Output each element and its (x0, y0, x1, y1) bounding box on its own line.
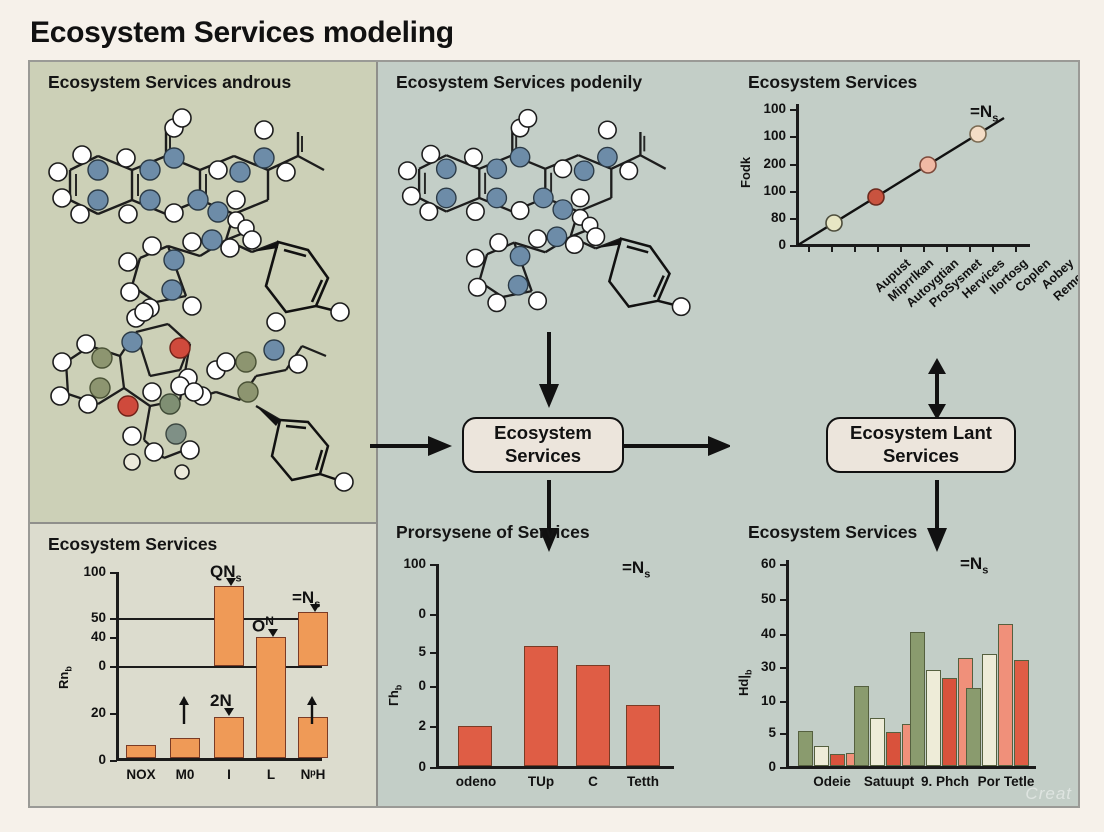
y-tick (430, 652, 437, 654)
bar-g3-s2 (998, 624, 1013, 766)
bar-g0-s0 (798, 731, 813, 766)
molecule-bottom-left (40, 300, 380, 500)
y-tick-label-4: 100 (742, 128, 786, 143)
y-axis-label-text: Γh (386, 690, 401, 706)
poster-board: Ecosystem Services androus (28, 60, 1080, 808)
x-tick (946, 244, 948, 252)
x-axis (436, 766, 674, 769)
y-tick (430, 767, 437, 769)
page-title: Ecosystem Services modeling (30, 16, 454, 50)
panel-left-top: Ecosystem Services androus (30, 62, 378, 522)
bar-g2-s0 (910, 632, 925, 766)
y-axis (786, 560, 789, 768)
flow-box-right-label: Ecosystem Lant Services (828, 422, 1014, 467)
x-tick-label-4: NᵖH (288, 767, 338, 782)
panel-left-top-header: Ecosystem Services androus (48, 72, 291, 93)
bar-g3-s1 (982, 654, 997, 766)
x-tick-label-0: NOX (116, 767, 166, 782)
bar-3 (256, 637, 286, 758)
x-tick (808, 244, 810, 252)
x-tick-label-2: C (567, 774, 619, 789)
arrow-double-vertical (926, 358, 948, 420)
x-tick-label-0: Odeie (802, 774, 862, 789)
y-tick-label-4: 50 (64, 610, 106, 625)
y-tick-label-4: 40 (740, 626, 776, 641)
y-tick-label-5: 50 (740, 591, 776, 606)
bar-chart-bottom-middle: 0 2 0 5 0 100 Γhb odeno TUp (378, 546, 730, 806)
annotation-qns-sub: s (236, 572, 242, 584)
y-tick (110, 760, 117, 762)
x-tick-label-3: Por Tetle (970, 774, 1042, 789)
y-tick-label-1: 2 (392, 718, 426, 733)
bar-g3-s3 (1014, 660, 1029, 766)
y-axis-label-sub: b (744, 670, 754, 676)
y-axis (436, 564, 439, 768)
annotation-ns-text: =N (622, 558, 644, 577)
x-tick (854, 244, 856, 252)
y-tick (780, 634, 787, 636)
annotation-ns-text: =N (960, 554, 982, 573)
bar-g1-s0 (854, 686, 869, 766)
x-tick (1015, 244, 1017, 252)
y-axis-label: Hd|b (736, 670, 754, 696)
bar-1 (524, 646, 558, 766)
gridline-zero (116, 666, 322, 668)
y-tick-label-3: 40 (64, 629, 106, 644)
panel-middle-header: Ecosystem Services podenily (396, 72, 642, 93)
flow-box-center[interactable]: Ecosystem Services (462, 417, 624, 473)
bar-2b (214, 586, 244, 666)
y-tick (110, 637, 117, 639)
annotation-up-arrow-0 (178, 696, 190, 724)
annotation-caret-1 (268, 629, 278, 637)
bar-g2-s1 (926, 670, 941, 766)
x-tick-label-1: M0 (160, 767, 210, 782)
annotation-ns-text: =N (970, 102, 992, 121)
y-tick-label-3: 5 (392, 644, 426, 659)
y-tick-label-1: 80 (746, 210, 786, 225)
bar-3 (626, 705, 660, 766)
bar-chart-bottom-middle-title: Prorsysene of Services (396, 522, 590, 543)
y-tick (110, 713, 117, 715)
arrow-down-to-grouped-chart (926, 480, 948, 554)
flow-box-right[interactable]: Ecosystem Lant Services (826, 417, 1016, 473)
y-axis-label: Fodk (738, 157, 753, 188)
y-tick (430, 686, 437, 688)
y-axis-label: Γhb (386, 685, 404, 706)
annotation-ns: =Ns (960, 554, 988, 576)
y-tick (780, 767, 787, 769)
x-axis (116, 758, 322, 761)
bar-g0-s2 (830, 754, 845, 766)
y-tick (110, 618, 117, 620)
x-tick-label-2: 9. Phch (914, 774, 976, 789)
y-axis-label: Rnb (56, 666, 74, 689)
y-tick-label-0: 0 (746, 237, 786, 252)
y-tick (430, 726, 437, 728)
y-tick-label-0: 0 (64, 752, 106, 767)
y-tick (780, 701, 787, 703)
line-series (796, 104, 1032, 248)
y-tick-label-6: 60 (740, 556, 776, 571)
annotation-on-text: O (252, 617, 265, 636)
arrow-down-to-center-box (538, 332, 560, 410)
bar-g1-s2 (886, 732, 901, 766)
arrow-left-into-center-box (370, 436, 454, 456)
x-tick-label-0: odeno (450, 774, 502, 789)
y-tick (110, 572, 117, 574)
arrow-right-to-right-box (624, 436, 736, 456)
y-tick (110, 666, 117, 668)
y-tick-label-0: 0 (392, 759, 426, 774)
flow-box-center-label: Ecosystem Services (464, 422, 622, 467)
x-tick (969, 244, 971, 252)
grouped-bar-chart-title: Ecosystem Services (748, 522, 917, 543)
y-tick (780, 667, 787, 669)
y-tick-label-5: 100 (384, 556, 426, 571)
annotation-ns-sub: s (992, 112, 998, 124)
bar-0 (458, 726, 492, 766)
line-chart-top-right: 0 80 100 200 100 100 Fodk (730, 96, 1080, 326)
y-axis-label-text: Hd| (736, 675, 751, 696)
y-axis-label-text: Rn (56, 672, 71, 689)
annotation-ns: =Ns (622, 558, 650, 580)
annotation-caret-2 (310, 604, 320, 612)
grouped-bar-chart-bottom-right: 0 5 10 30 40 50 60 Hd|b (730, 546, 1080, 806)
annotation-caret-3 (224, 708, 234, 716)
y-axis-label-sub: b (394, 685, 404, 691)
x-tick (877, 244, 879, 252)
x-axis (786, 766, 1036, 769)
x-tick-label-1: Satuupt (858, 774, 920, 789)
x-tick (831, 244, 833, 252)
molecule-middle (390, 100, 720, 325)
bar-2a (214, 717, 244, 758)
annotation-on-sup: N (265, 614, 274, 628)
bar-2 (576, 665, 610, 766)
x-tick (923, 244, 925, 252)
panel-middle: Ecosystem Services podenily (378, 62, 730, 806)
y-tick (780, 599, 787, 601)
x-tick (900, 244, 902, 252)
y-tick (780, 733, 787, 735)
y-tick (780, 564, 787, 566)
bar-4b (298, 612, 328, 666)
annotation-ns-sub: s (982, 564, 988, 576)
bar-g3-s0 (966, 688, 981, 766)
panel-left-bottom: Ecosystem Services 0 20 0 40 50 (30, 522, 378, 806)
x-tick-label-3: Tetth (617, 774, 669, 789)
bar-g0-s1 (814, 746, 829, 766)
y-tick (430, 614, 437, 616)
y-tick-label-1: 20 (64, 705, 106, 720)
y-tick-label-5: 100 (742, 101, 786, 116)
y-tick-label-5: 100 (58, 564, 106, 579)
x-tick-label-1: TUp (515, 774, 567, 789)
bar-1 (170, 738, 200, 758)
y-tick-label-0: 0 (744, 759, 776, 774)
panel-right-header: Ecosystem Services (748, 72, 917, 93)
bar-0 (126, 745, 156, 758)
y-tick-label-4: 0 (392, 606, 426, 621)
poster-root: Ecosystem Services modeling Ecosystem Se… (0, 0, 1104, 832)
annotation-caret-0 (226, 578, 236, 586)
annotation-ns: =Ns (970, 102, 998, 124)
y-tick-label-1: 5 (744, 725, 776, 740)
y-axis-label-sub: b (64, 666, 74, 672)
bar-g1-s1 (870, 718, 885, 766)
annotation-up-arrow-1 (306, 696, 318, 724)
y-tick (430, 564, 437, 566)
molecule-top-left (40, 100, 380, 330)
bar-g2-s2 (942, 678, 957, 766)
x-tick (992, 244, 994, 252)
panel-right: Ecosystem Services 0 80 100 200 100 100 … (730, 62, 1080, 806)
bar-chart-bottom-left: 0 20 0 40 50 100 Rnb (30, 524, 378, 808)
annotation-ns-sub: s (644, 568, 650, 580)
